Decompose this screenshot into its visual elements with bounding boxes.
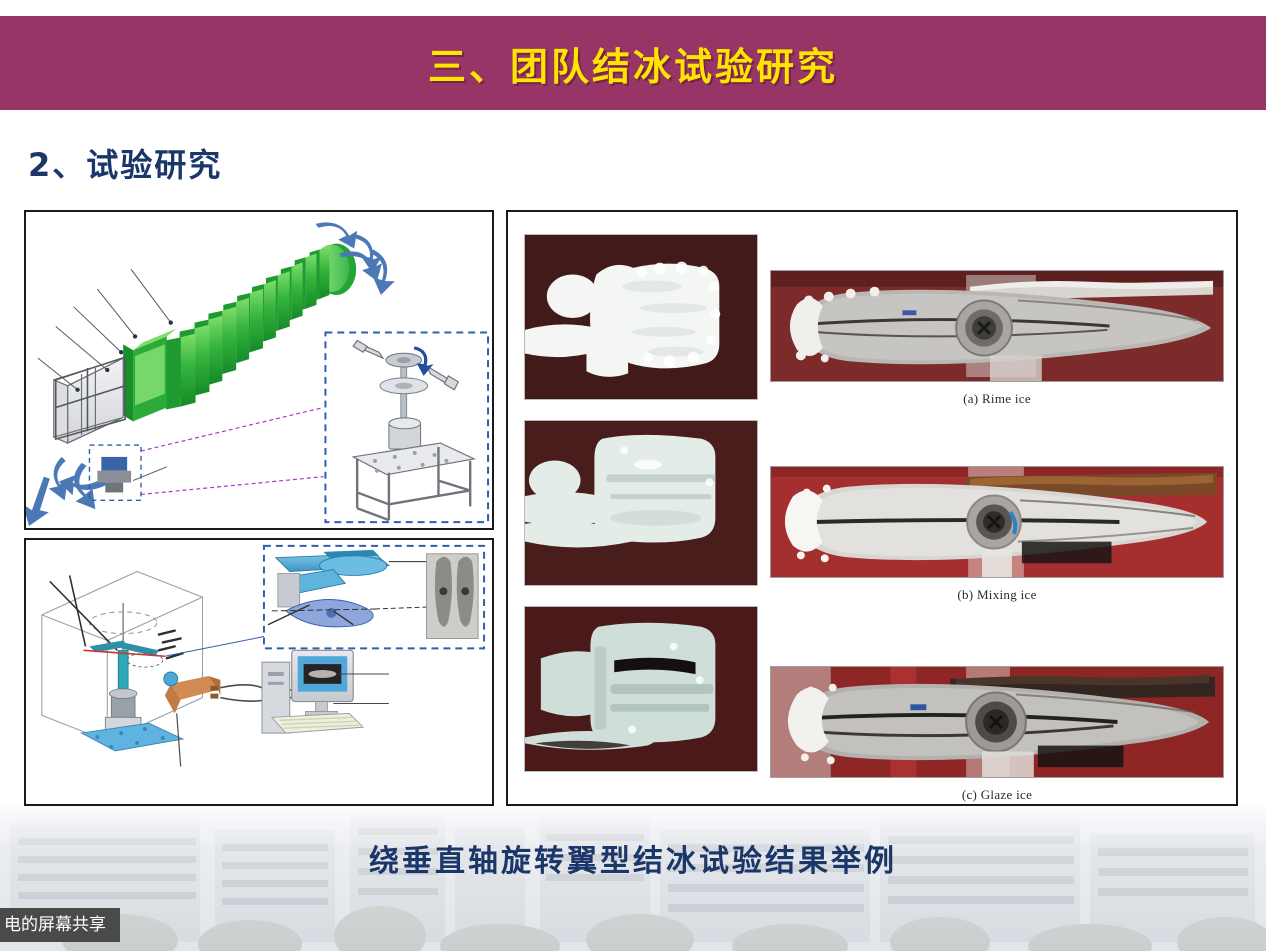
- airfoil-figure-column: (a) Rime ice: [770, 226, 1224, 792]
- rotating-rig-diagram: [26, 540, 492, 804]
- rotating-rig-diagram-panel: [24, 538, 494, 806]
- wind-tunnel-diagram-panel: [24, 210, 494, 530]
- airfoil-caption: (c) Glaze ice: [770, 787, 1224, 803]
- airfoil-figure: (c) Glaze ice: [770, 666, 1224, 803]
- figure-caption: 绕垂直轴旋转翼型结冰试验结果举例: [0, 836, 1266, 880]
- screen-share-badge: 电的屏幕共享: [0, 908, 120, 942]
- airfoil-caption: (a) Rime ice: [770, 391, 1224, 407]
- slide-title-band: 三、团队结冰试验研究: [0, 16, 1266, 110]
- glaze-ice-airfoil-photo: [770, 666, 1224, 778]
- ice-photos-panel: (a) Rime ice: [506, 210, 1238, 806]
- airfoil-caption: (b) Mixing ice: [770, 587, 1224, 603]
- rime-ice-airfoil-photo: [770, 270, 1224, 382]
- section-heading: 2、试验研究: [28, 140, 222, 186]
- ice-sample-column: [524, 226, 758, 792]
- airfoil-figure: (b) Mixing ice: [770, 466, 1224, 603]
- presentation-slide: 三、团队结冰试验研究 2、试验研究: [0, 0, 1266, 951]
- rime-ice-sample-photo: [524, 234, 758, 400]
- airfoil-figure: (a) Rime ice: [770, 270, 1224, 407]
- mixing-ice-sample-photo: [524, 420, 758, 586]
- page-title: 三、团队结冰试验研究: [428, 36, 838, 91]
- glaze-ice-sample-photo: [524, 606, 758, 772]
- mixing-ice-airfoil-photo: [770, 466, 1224, 578]
- wind-tunnel-diagram: [26, 212, 492, 528]
